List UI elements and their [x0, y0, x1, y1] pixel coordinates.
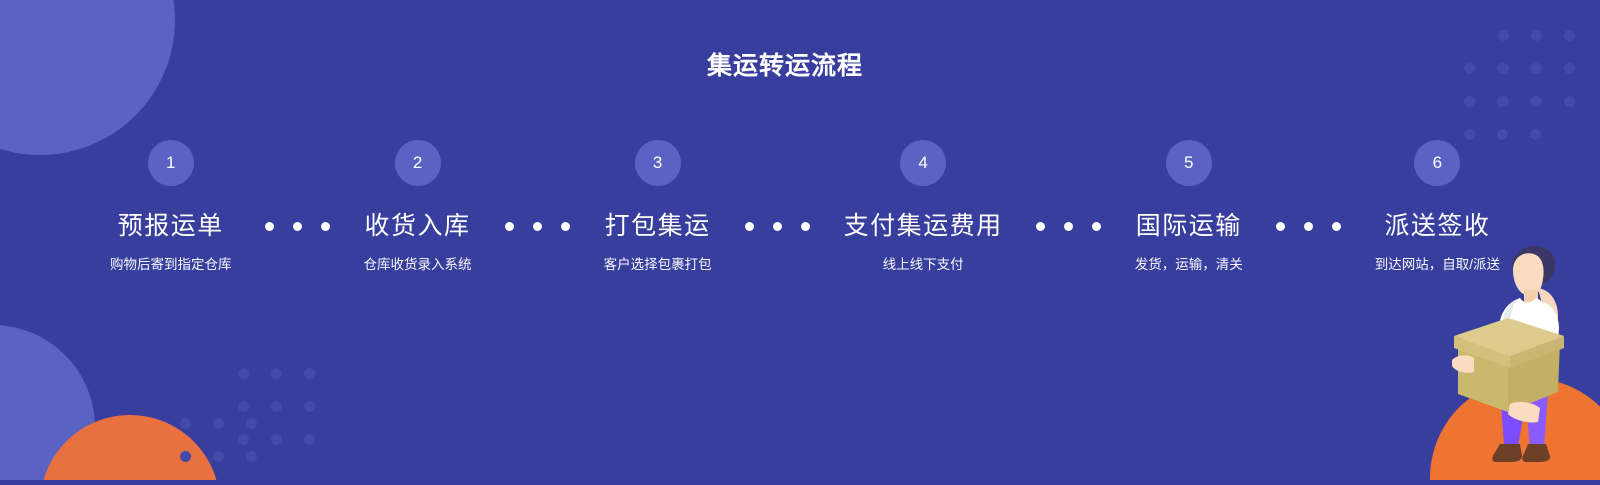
step-subtitle: 购物后寄到指定仓库	[110, 256, 232, 274]
step-item-3[interactable]: 3 打包集运 客户选择包裹打包	[604, 140, 712, 274]
step-number-badge: 6	[1414, 140, 1460, 186]
step-item-5[interactable]: 5 国际运输 发货，运输，清关	[1135, 140, 1243, 274]
connector-dots-5-6	[1243, 212, 1375, 240]
step-title: 打包集运	[605, 212, 711, 240]
step-number-badge: 4	[900, 140, 946, 186]
step-subtitle: 客户选择包裹打包	[604, 256, 712, 274]
step-title: 支付集运费用	[844, 212, 1003, 240]
step-title: 收货入库	[365, 212, 471, 240]
step-subtitle: 仓库收货录入系统	[364, 256, 472, 274]
connector-dots-1-2	[232, 212, 364, 240]
step-number-badge: 2	[395, 140, 441, 186]
process-steps: 1 预报运单 购物后寄到指定仓库 2 收货入库 仓库收货录入系统 3 打包集运 …	[110, 140, 1500, 274]
step-number-badge: 3	[635, 140, 681, 186]
step-title: 预报运单	[118, 212, 224, 240]
step-subtitle: 发货，运输，清关	[1135, 256, 1243, 274]
connector-dots-4-5	[1003, 212, 1135, 240]
connector-dots-3-4	[712, 212, 844, 240]
step-item-1[interactable]: 1 预报运单 购物后寄到指定仓库	[110, 140, 232, 274]
step-number-badge: 5	[1166, 140, 1212, 186]
dot-grid-bottom-left-lower	[180, 418, 257, 480]
step-number-badge: 1	[148, 140, 194, 186]
step-title: 国际运输	[1136, 212, 1242, 240]
person-carrying-box-illustration	[1452, 232, 1582, 480]
connector-dots-2-3	[472, 212, 604, 240]
page-title: 集运转运流程	[0, 46, 1600, 82]
step-subtitle: 线上线下支付	[883, 256, 964, 274]
step-item-4[interactable]: 4 支付集运费用 线上线下支付	[844, 140, 1003, 274]
step-item-2[interactable]: 2 收货入库 仓库收货录入系统	[364, 140, 472, 274]
